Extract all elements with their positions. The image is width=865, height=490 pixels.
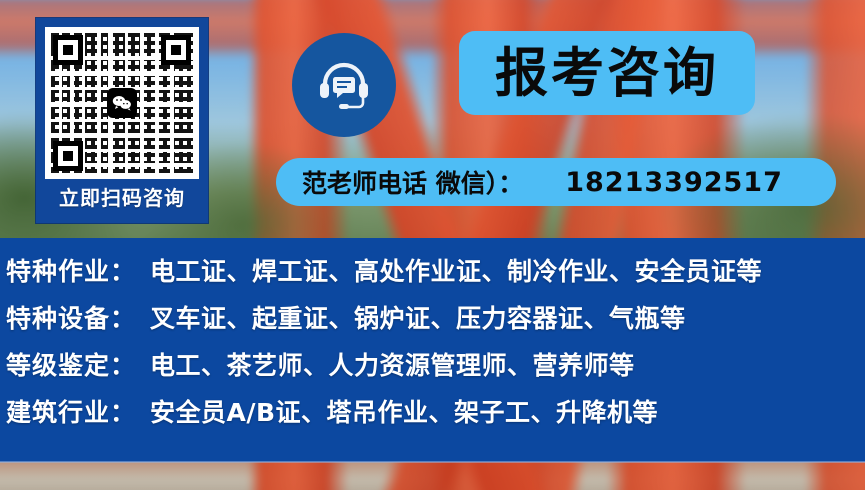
catalog-items-text: 叉车证、起重证、锅炉证、压力容器证、气瓶等 <box>150 299 686 335</box>
catalog-category-label: 特种设备： <box>6 299 136 335</box>
catalog-category-label: 特种作业： <box>6 252 136 288</box>
catalog-category-label: 等级鉴定： <box>6 346 136 382</box>
course-catalog-panel: 特种作业： 电工证、焊工证、高处作业证、制冷作业、安全员证等 特种设备： 叉车证… <box>0 238 865 462</box>
page-title: 报考咨询 <box>495 47 719 100</box>
qr-code-frame <box>45 27 199 179</box>
contact-phone-number[interactable]: 18213392517 <box>565 167 783 198</box>
catalog-row-grade-assessment: 等级鉴定： 电工、茶艺师、人力资源管理师、营养师等 <box>6 346 865 393</box>
wechat-icon <box>107 88 137 118</box>
qr-finder-top-right <box>161 35 191 65</box>
headset-support-icon <box>292 33 396 137</box>
catalog-row-construction-industry: 建筑行业： 安全员A/B证、塔吊作业、架子工、升降机等 <box>6 393 865 440</box>
catalog-items-text: 安全员A/B证、塔吊作业、架子工、升降机等 <box>150 393 658 429</box>
catalog-category-label: 建筑行业： <box>6 393 136 429</box>
qr-caption: 立即扫码咨询 <box>45 179 199 221</box>
catalog-row-special-equipment: 特种设备： 叉车证、起重证、锅炉证、压力容器证、气瓶等 <box>6 299 865 346</box>
catalog-items-text: 电工、茶艺师、人力资源管理师、营养师等 <box>150 346 635 382</box>
qr-finder-top-left <box>53 35 83 65</box>
promo-poster: 立即扫码咨询 报考咨询 范老师电话 微信）： 18213392517 特 <box>0 0 865 490</box>
consult-title-pill: 报考咨询 <box>459 31 755 115</box>
catalog-row-special-operations: 特种作业： 电工证、焊工证、高处作业证、制冷作业、安全员证等 <box>6 252 865 299</box>
panel-bottom-edge <box>0 461 865 463</box>
contact-pill[interactable]: 范老师电话 微信）： 18213392517 <box>276 158 836 206</box>
qr-finder-bottom-left <box>53 141 83 171</box>
catalog-items-text: 电工证、焊工证、高处作业证、制冷作业、安全员证等 <box>150 252 762 288</box>
contact-label: 范老师电话 微信）： <box>302 164 523 200</box>
qr-card[interactable]: 立即扫码咨询 <box>36 18 208 223</box>
